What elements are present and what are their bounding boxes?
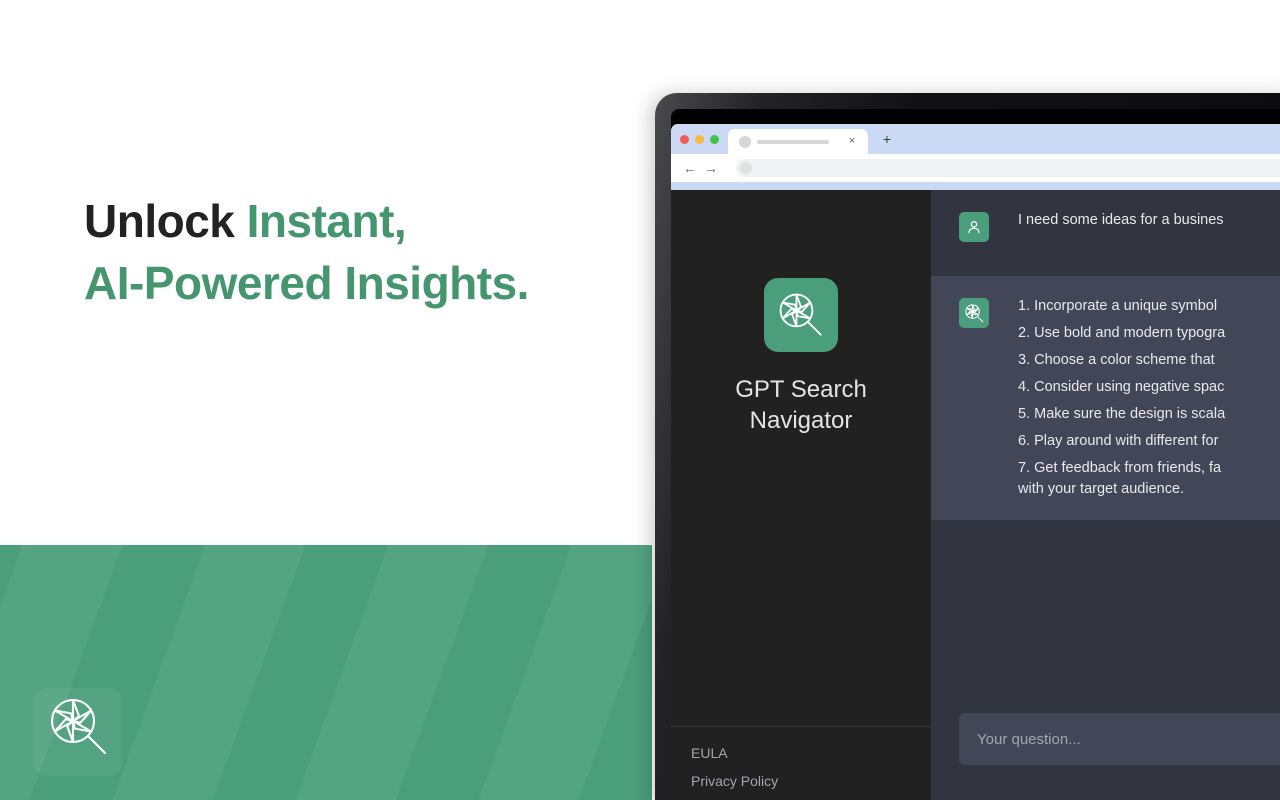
chat-message-user: I need some ideas for a busines: [931, 190, 1280, 276]
window-controls[interactable]: [680, 135, 719, 144]
browser-window: × + ← →: [671, 124, 1280, 800]
minimize-window-icon[interactable]: [695, 135, 704, 144]
tab-title-placeholder: [757, 140, 829, 144]
laptop-screen: × + ← →: [671, 109, 1280, 800]
close-tab-icon[interactable]: ×: [844, 133, 860, 149]
sidebar-link-eula[interactable]: EULA: [691, 739, 931, 767]
aperture-search-logo-icon: [46, 694, 112, 760]
list-item: 6. Play around with different for: [1018, 431, 1248, 452]
chat-message-assistant: 1. Incorporate a unique symbol 2. Use bo…: [931, 276, 1280, 520]
app-sidebar: GPT Search Navigator EULA Privacy Policy: [671, 190, 931, 800]
sidebar-footer: EULA Privacy Policy: [671, 726, 931, 800]
list-item: 4. Consider using negative spac: [1018, 377, 1248, 398]
close-window-icon[interactable]: [680, 135, 689, 144]
assistant-aperture-search-logo-icon: [959, 298, 989, 328]
headline-line-1: Unlock Instant,: [84, 190, 644, 252]
page-title: Unlock Instant, AI-Powered Insights.: [84, 190, 644, 314]
favicon-icon: [739, 136, 751, 148]
assistant-answer-list: 1. Incorporate a unique symbol 2. Use bo…: [1018, 296, 1248, 500]
list-item: 2. Use bold and modern typogra: [1018, 323, 1248, 344]
user-person-icon: [959, 212, 989, 242]
headline-text-accent-1: Instant,: [247, 195, 407, 247]
user-message-text: I need some ideas for a busines: [1018, 210, 1224, 231]
browser-tabbar: × +: [671, 124, 1280, 154]
headline-line-2: AI-Powered Insights.: [84, 252, 644, 314]
composer-area: Your question...: [931, 599, 1280, 800]
assistant-message-text: 1. Incorporate a unique symbol 2. Use bo…: [1018, 296, 1248, 500]
gpt-search-navigator-app: GPT Search Navigator EULA Privacy Policy: [671, 190, 1280, 800]
headline-text-plain: Unlock: [84, 195, 247, 247]
list-item: 3. Choose a color scheme that: [1018, 350, 1248, 371]
question-input-placeholder: Your question...: [977, 731, 1081, 748]
brand-aperture-search-logo-icon: [764, 278, 838, 352]
bookmarks-strip: [671, 182, 1280, 190]
list-item: 1. Incorporate a unique symbol: [1018, 296, 1248, 317]
maximize-window-icon[interactable]: [710, 135, 719, 144]
sidebar-link-privacy-policy[interactable]: Privacy Policy: [691, 767, 931, 795]
chat-panel: I need some ideas for a busines: [931, 190, 1280, 800]
question-input[interactable]: Your question...: [959, 713, 1280, 765]
sidebar-brand: GPT Search Navigator: [671, 278, 931, 436]
browser-toolbar: ← →: [671, 154, 1280, 182]
forward-arrow-icon[interactable]: →: [702, 159, 720, 177]
list-item: 7. Get feedback from friends, fa with yo…: [1018, 458, 1248, 500]
browser-tab-active[interactable]: ×: [728, 129, 868, 154]
back-arrow-icon[interactable]: ←: [681, 159, 699, 177]
address-bar-input[interactable]: [736, 159, 1280, 177]
new-tab-button[interactable]: +: [879, 131, 895, 147]
laptop-mockup: × + ← →: [655, 93, 1280, 800]
list-item: 5. Make sure the design is scala: [1018, 404, 1248, 425]
screenshot-stage: Unlock Instant, AI-Powered Insights.: [0, 0, 1280, 800]
app-title: GPT Search Navigator: [701, 374, 901, 436]
site-info-icon: [740, 162, 752, 174]
